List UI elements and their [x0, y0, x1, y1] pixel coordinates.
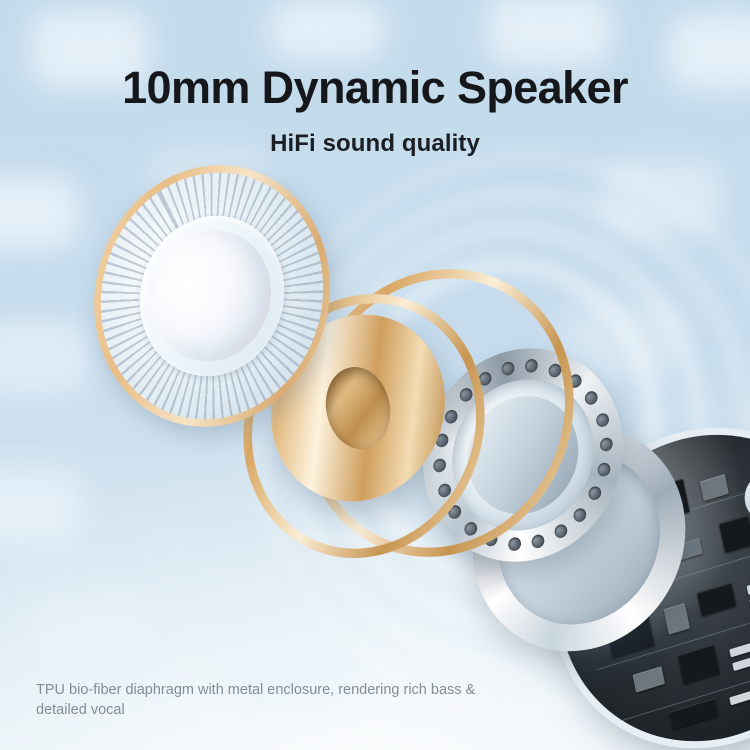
- perforation-hole: [583, 389, 599, 407]
- perforation-hole: [587, 485, 603, 503]
- feature-caption: TPU bio-fiber diaphragm with metal enclo…: [36, 680, 476, 720]
- perforation-hole: [594, 411, 610, 429]
- perforation-hole: [553, 522, 569, 540]
- page-subtitle: HiFi sound quality: [0, 130, 750, 158]
- perforation-hole: [530, 532, 546, 550]
- perforation-hole: [572, 506, 588, 524]
- perforation-hole: [596, 461, 612, 479]
- perforation-hole: [598, 435, 614, 453]
- product-feature-banner: B 10mm Dynamic Sp: [0, 0, 750, 750]
- perforation-hole: [506, 535, 522, 553]
- page-title: 10mm Dynamic Speaker: [0, 62, 750, 114]
